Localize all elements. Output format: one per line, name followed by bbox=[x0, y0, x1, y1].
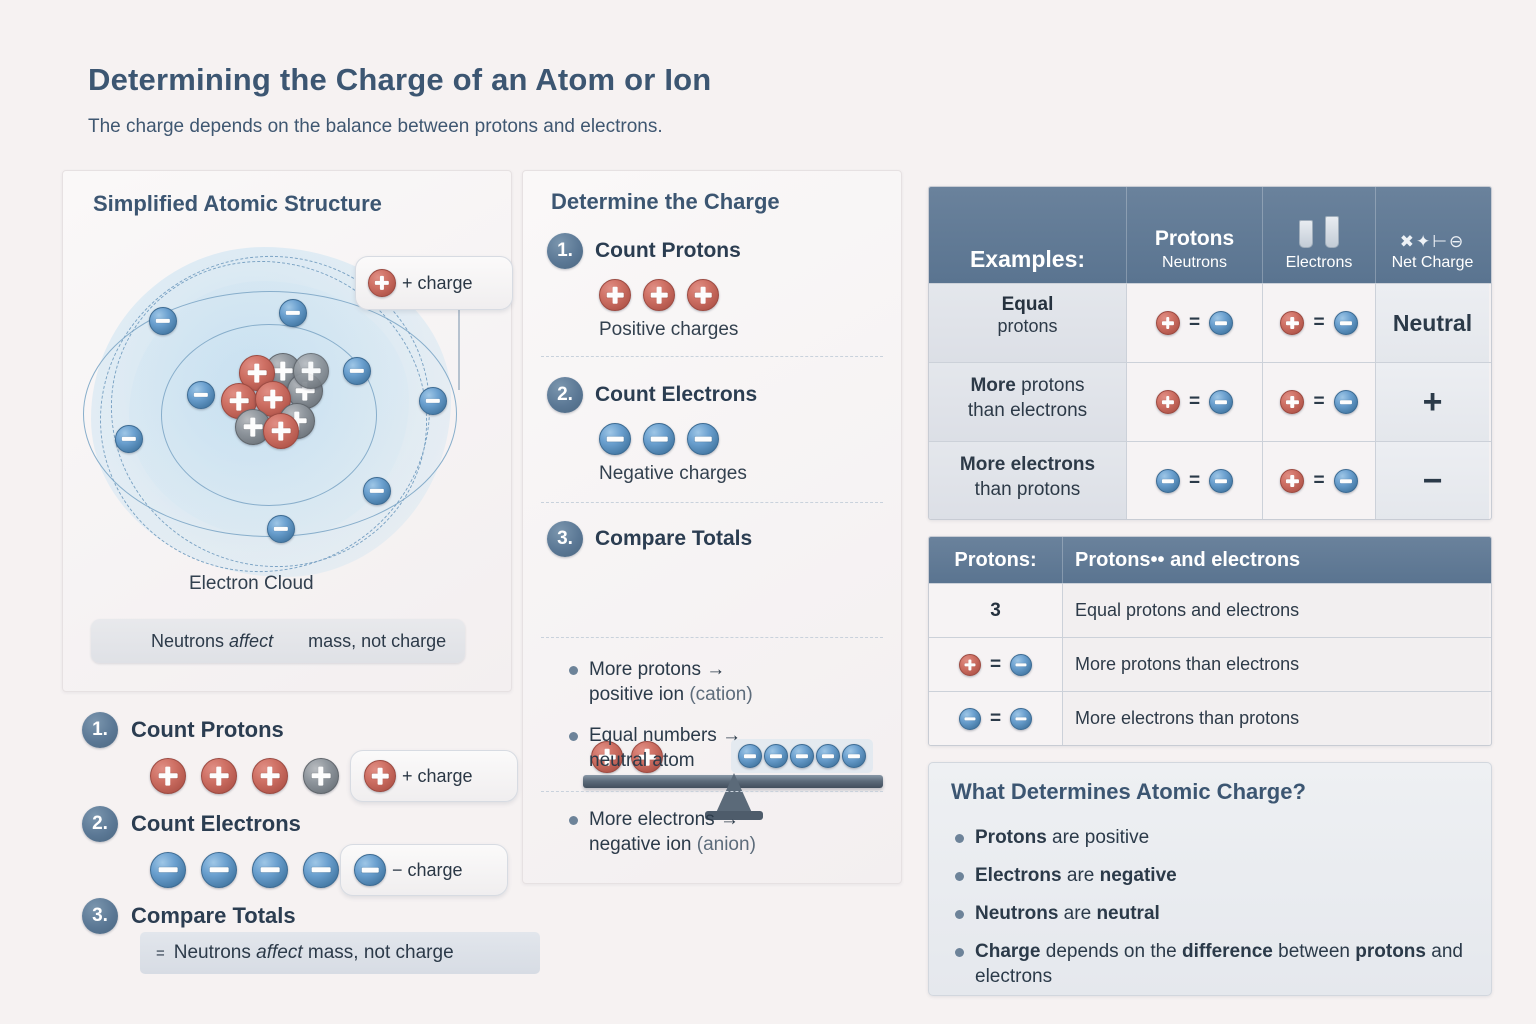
nucleus bbox=[221, 351, 341, 461]
neutron-mass-note: Neutrons affect mass, not charge bbox=[91, 619, 465, 663]
bullet-dot-icon bbox=[569, 666, 578, 675]
cell-count: = bbox=[929, 638, 1063, 691]
bullet-tail: positive ion bbox=[589, 684, 689, 705]
proton-icon bbox=[1280, 311, 1304, 335]
bottom-steps-section: 1. Count Protons + charge 2. Count Elect… bbox=[82, 706, 552, 968]
electron-chip bbox=[643, 423, 675, 455]
list-item: Protons are positive bbox=[955, 825, 1470, 850]
proton-icon bbox=[368, 269, 396, 297]
cell-description: More electrons than protons bbox=[1063, 692, 1489, 745]
charge-symbol-icons: ✖✦⊢⊖ bbox=[1400, 232, 1466, 252]
determine-charge-panel: Determine the Charge 1. Count Protons Po… bbox=[522, 170, 902, 884]
step-3-title: Compare Totals bbox=[595, 527, 752, 551]
proton-icon bbox=[1156, 311, 1180, 335]
list-item: Neutrons are neutral bbox=[955, 901, 1470, 926]
equals-sign: = bbox=[1313, 312, 1324, 334]
note-equals-mark: = bbox=[156, 945, 165, 962]
note-prefix: Neutrons bbox=[121, 631, 229, 651]
protons-table-header: Protons: Protons•• and electrons bbox=[929, 537, 1491, 583]
item-strong: Neutrons bbox=[975, 903, 1058, 924]
page-title: Determining the Charge of an Atom or Ion bbox=[88, 62, 711, 98]
examples-table: Examples: Protons Neutrons Electrons ✖✦⊢… bbox=[928, 186, 1492, 520]
table-row: = More electrons than protons bbox=[929, 691, 1491, 745]
row-label: Equal protons bbox=[929, 284, 1127, 362]
step-2: 2. Count Electrons Negative charges bbox=[547, 377, 757, 485]
step-1-caption: Positive charges bbox=[599, 319, 741, 341]
plus-charge-callout-bottom: + charge bbox=[350, 750, 518, 802]
item-strong: Electrons bbox=[975, 865, 1062, 886]
callout-leader-line bbox=[458, 300, 460, 390]
header-examples-label: Examples: bbox=[970, 246, 1085, 273]
step-2-title: Count Electrons bbox=[595, 383, 757, 407]
description-text: Equal protons and electrons bbox=[1075, 600, 1299, 621]
electron-chip bbox=[816, 744, 840, 768]
neutron-particle bbox=[293, 353, 329, 389]
proton-icon bbox=[959, 654, 981, 676]
neutron-chip bbox=[303, 758, 339, 794]
description-text: More electrons than protons bbox=[1075, 708, 1299, 729]
proton-chip bbox=[599, 279, 631, 311]
table-row: More protons than electrons = = + bbox=[929, 362, 1491, 441]
arrow-icon: → bbox=[706, 659, 725, 680]
bullet-lead: Equal numbers bbox=[589, 725, 722, 746]
proton-particle bbox=[263, 413, 299, 449]
item-rest2: between bbox=[1273, 941, 1355, 962]
bullet-muted: (anion) bbox=[697, 834, 756, 855]
step-1-title: Count Protons bbox=[595, 239, 741, 263]
bullet-dot-icon bbox=[955, 910, 964, 919]
test-tube-icon bbox=[1325, 216, 1339, 248]
item-strong: Protons bbox=[975, 827, 1047, 848]
infographic-root: Determining the Charge of an Atom or Ion… bbox=[0, 0, 1536, 1024]
table-row: More electrons than protons = = − bbox=[929, 441, 1491, 520]
outcome-bullet: More protons → positive ion (cation) bbox=[569, 657, 753, 707]
protons-table-body: 3 Equal protons and electrons = More pro… bbox=[929, 583, 1491, 745]
equals-sign: = bbox=[1313, 470, 1324, 492]
cell-electrons: = bbox=[1263, 363, 1376, 441]
outcome-bullets-2: More electrons → negative ion (anion) bbox=[569, 807, 756, 873]
item-rest: are bbox=[1062, 865, 1100, 886]
electron-chip bbox=[150, 852, 186, 888]
info-box-list: Protons are positive Electrons are negat… bbox=[955, 825, 1470, 1002]
electron-icon bbox=[1334, 390, 1358, 414]
protons-summary-table: Protons: Protons•• and electrons 3 Equal… bbox=[928, 536, 1492, 746]
list-item: Electrons are negative bbox=[955, 863, 1470, 888]
cell-net-charge: + bbox=[1376, 363, 1489, 441]
plus-charge-label: + charge bbox=[402, 273, 473, 294]
bottom-step-1-number: 1. bbox=[82, 712, 118, 748]
electron-icon bbox=[1010, 654, 1032, 676]
electron-icon bbox=[1209, 390, 1233, 414]
proton-chip bbox=[201, 758, 237, 794]
cell-electrons: = bbox=[1263, 442, 1376, 520]
electron-icon bbox=[1334, 311, 1358, 335]
header-protons-neutrons: Protons Neutrons bbox=[1127, 187, 1263, 283]
proton-chip bbox=[643, 279, 675, 311]
bottom-step-1: 1. Count Protons bbox=[82, 712, 284, 748]
bullet-dot-icon bbox=[955, 872, 964, 881]
item-rest: are bbox=[1058, 903, 1096, 924]
cell-description: Equal protons and electrons bbox=[1063, 584, 1489, 637]
bottom-electron-chips bbox=[150, 852, 339, 888]
note-suffix: mass, not charge bbox=[273, 631, 446, 651]
plus-charge-callout: + charge bbox=[355, 256, 513, 310]
header-protons-label: Protons bbox=[1155, 226, 1234, 252]
orbiting-electron bbox=[279, 299, 307, 327]
equals-sign: = bbox=[1189, 312, 1200, 334]
header-electrons-label: Electrons bbox=[1286, 252, 1353, 273]
proton-chip bbox=[687, 279, 719, 311]
test-tube-icons bbox=[1299, 216, 1339, 248]
proton-icon bbox=[1156, 390, 1180, 414]
step-3: 3. Compare Totals bbox=[547, 521, 752, 557]
examples-table-body: Equal protons = = Neutral More protons t… bbox=[929, 283, 1491, 520]
step-1-chips bbox=[599, 279, 741, 311]
header-net-charge-label: Net Charge bbox=[1392, 252, 1474, 273]
item-rest: are positive bbox=[1047, 827, 1149, 848]
header-protons-col: Protons: bbox=[929, 537, 1063, 583]
bottom-step-1-title: Count Protons bbox=[131, 717, 284, 743]
electron-icon bbox=[1209, 469, 1233, 493]
proton-icon bbox=[1280, 469, 1304, 493]
orbiting-electron bbox=[267, 515, 295, 543]
row-label-strong: Equal bbox=[1002, 294, 1054, 316]
list-item: Charge depends on the difference between… bbox=[955, 939, 1470, 989]
row-label: More protons than electrons bbox=[929, 363, 1127, 441]
bottom-step-2-title: Count Electrons bbox=[131, 811, 301, 837]
electron-cloud-label: Electron Cloud bbox=[189, 573, 314, 595]
row-label-rest: protons bbox=[997, 316, 1057, 337]
count-value: 3 bbox=[990, 600, 1001, 622]
table-row: 3 Equal protons and electrons bbox=[929, 583, 1491, 637]
orbiting-electron bbox=[343, 357, 371, 385]
proton-chip bbox=[150, 758, 186, 794]
atomic-structure-panel: Simplified Atomic Structure bbox=[62, 170, 512, 692]
bottom-proton-chips bbox=[150, 758, 339, 794]
bottom-step-3-title: Compare Totals bbox=[131, 903, 296, 929]
step-2-chips bbox=[599, 423, 757, 455]
orbiting-electron bbox=[187, 381, 215, 409]
bottom-step-3-number: 3. bbox=[82, 898, 118, 934]
equals-sign: = bbox=[1189, 391, 1200, 413]
arrow-icon: → bbox=[720, 809, 739, 830]
bottom-step-2-number: 2. bbox=[82, 806, 118, 842]
equals-sign: = bbox=[1313, 391, 1324, 413]
header-electrons: Electrons bbox=[1263, 187, 1376, 283]
equals-sign: = bbox=[1189, 470, 1200, 492]
bottom-step-3: 3. Compare Totals bbox=[82, 898, 296, 934]
bullet-muted: (cation) bbox=[689, 684, 752, 705]
header-net-charge: ✖✦⊢⊖ Net Charge bbox=[1376, 187, 1489, 283]
plus-charge-label: + charge bbox=[402, 766, 473, 787]
determine-charge-title: Determine the Charge bbox=[551, 189, 780, 215]
bullet-lead: More electrons bbox=[589, 809, 720, 830]
electron-chip bbox=[687, 423, 719, 455]
info-box-title: What Determines Atomic Charge? bbox=[951, 779, 1306, 805]
row-label: More electrons than protons bbox=[929, 442, 1127, 520]
net-charge-value: Neutral bbox=[1393, 310, 1472, 337]
step-divider-2 bbox=[541, 502, 883, 503]
bottom-step-2: 2. Count Electrons bbox=[82, 806, 301, 842]
cell-description: More protons than electrons bbox=[1063, 638, 1489, 691]
orbiting-electron bbox=[115, 425, 143, 453]
arrow-icon: → bbox=[722, 725, 741, 746]
outcome-bullet: More electrons → negative ion (anion) bbox=[569, 807, 756, 857]
item-strong2: negative bbox=[1100, 865, 1177, 886]
note-italic: affect bbox=[229, 631, 273, 651]
item-rest: depends on the bbox=[1040, 941, 1182, 962]
header-neutrons-label: Neutrons bbox=[1162, 252, 1227, 273]
minus-charge-label: − charge bbox=[392, 860, 463, 881]
table-row: Equal protons = = Neutral bbox=[929, 283, 1491, 362]
electron-chip bbox=[599, 423, 631, 455]
electron-icon bbox=[1334, 469, 1358, 493]
step-2-caption: Negative charges bbox=[599, 463, 757, 485]
bullet-dot-icon bbox=[569, 732, 578, 741]
electron-icon bbox=[354, 854, 386, 886]
cell-electrons: = bbox=[1263, 284, 1376, 362]
equals-sign: = bbox=[990, 708, 1001, 730]
cell-net-charge: − bbox=[1376, 442, 1489, 520]
outcome-bullets: More protons → positive ion (cation) Equ… bbox=[569, 657, 753, 789]
electron-chip bbox=[790, 744, 814, 768]
row-label-strong: More electrons bbox=[960, 454, 1095, 475]
header-protons-col-label: Protons: bbox=[954, 549, 1036, 572]
note-suffix: mass, not charge bbox=[303, 942, 454, 963]
bullet-lead: More protons bbox=[589, 659, 706, 680]
header-protons-electrons-label: Protons•• and electrons bbox=[1075, 549, 1300, 572]
test-tube-icon bbox=[1299, 220, 1313, 248]
electron-chip bbox=[303, 852, 339, 888]
electron-chip bbox=[201, 852, 237, 888]
row-label-line2: than electrons bbox=[968, 398, 1087, 423]
electron-chip bbox=[252, 852, 288, 888]
orbiting-electron bbox=[363, 477, 391, 505]
step-divider-3 bbox=[541, 637, 883, 638]
cell-protons-neutrons: = bbox=[1127, 363, 1263, 441]
bullet-dot-icon bbox=[569, 816, 578, 825]
page-subtitle: The charge depends on the balance betwee… bbox=[88, 116, 663, 138]
electron-icon bbox=[959, 708, 981, 730]
atomic-charge-info-box: What Determines Atomic Charge? Protons a… bbox=[928, 762, 1492, 996]
atomic-structure-title: Simplified Atomic Structure bbox=[93, 191, 382, 217]
proton-chip bbox=[252, 758, 288, 794]
cell-protons-neutrons: = bbox=[1127, 284, 1263, 362]
bullet-dot-icon bbox=[955, 834, 964, 843]
step-3-number: 3. bbox=[547, 521, 583, 557]
description-text: More protons than electrons bbox=[1075, 654, 1299, 675]
net-charge-value: + bbox=[1423, 385, 1443, 419]
table-row: = More protons than electrons bbox=[929, 637, 1491, 691]
cell-protons-neutrons: = bbox=[1127, 442, 1263, 520]
proton-icon bbox=[364, 760, 396, 792]
proton-icon bbox=[1280, 390, 1304, 414]
electron-chip bbox=[764, 744, 788, 768]
cell-count: 3 bbox=[929, 584, 1063, 637]
bottom-neutron-note: = Neutrons affect mass, not charge bbox=[140, 932, 540, 974]
note-prefix: Neutrons bbox=[174, 942, 256, 963]
step-1: 1. Count Protons Positive charges bbox=[547, 233, 741, 341]
cell-net-charge: Neutral bbox=[1376, 284, 1489, 362]
outcome-bullet: Equal numbers → neutral atom bbox=[569, 723, 753, 773]
bullet-tail: neutral atom bbox=[589, 750, 695, 771]
row-label-strong: More bbox=[970, 375, 1015, 396]
electron-icon bbox=[1156, 469, 1180, 493]
row-label-line2: than protons bbox=[975, 477, 1081, 502]
header-examples: Examples: bbox=[929, 187, 1127, 283]
electron-chip bbox=[842, 744, 866, 768]
orbiting-electron bbox=[419, 387, 447, 415]
examples-table-header: Examples: Protons Neutrons Electrons ✖✦⊢… bbox=[929, 187, 1491, 283]
note-italic: affect bbox=[256, 942, 302, 963]
item-strong: Charge bbox=[975, 941, 1040, 962]
step-divider-4 bbox=[541, 791, 883, 792]
bullet-dot-icon bbox=[955, 948, 964, 957]
minus-charge-callout-bottom: − charge bbox=[340, 844, 508, 896]
item-strong2: neutral bbox=[1096, 903, 1159, 924]
step-1-number: 1. bbox=[547, 233, 583, 269]
electron-icon bbox=[1010, 708, 1032, 730]
row-label-rest: protons bbox=[1016, 375, 1085, 396]
header-protons-electrons-col: Protons•• and electrons bbox=[1063, 537, 1489, 583]
net-charge-value: − bbox=[1423, 464, 1443, 498]
item-strong3: protons bbox=[1355, 941, 1426, 962]
orbiting-electron bbox=[149, 307, 177, 335]
bullet-tail: negative ion bbox=[589, 834, 697, 855]
equals-sign: = bbox=[990, 654, 1001, 676]
item-strong2: difference bbox=[1182, 941, 1273, 962]
electron-icon bbox=[1209, 311, 1233, 335]
step-2-number: 2. bbox=[547, 377, 583, 413]
cell-count: = bbox=[929, 692, 1063, 745]
step-divider-1 bbox=[541, 356, 883, 357]
